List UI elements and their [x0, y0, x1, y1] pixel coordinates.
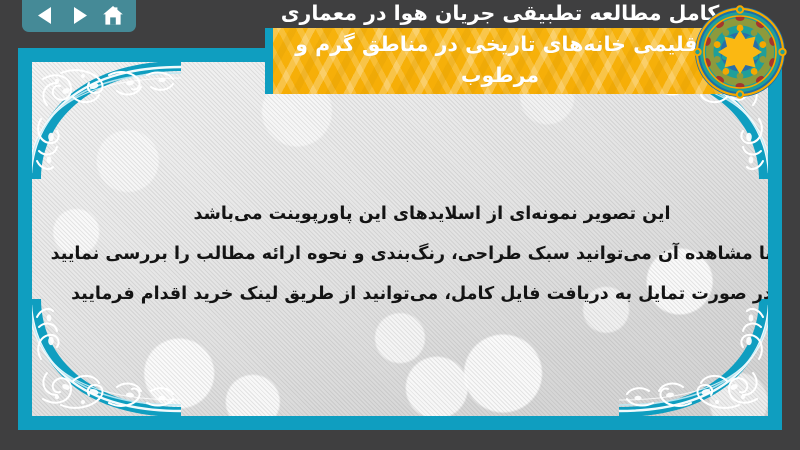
- slide-title: کامل مطالعه تطبیقی جریان هوا در معماری ا…: [265, 0, 735, 91]
- back-arrow-icon: [37, 6, 54, 25]
- slide-content-panel: این تصویر نمونه‌ای از اسلایدهای این پاور…: [32, 62, 768, 416]
- corner-arabesque-icon-bottom-left: [32, 299, 181, 416]
- persian-medallion-icon: [690, 2, 790, 102]
- navigation-toolbar: [22, 0, 136, 32]
- back-button[interactable]: [32, 3, 58, 27]
- home-button[interactable]: [100, 3, 126, 27]
- corner-arabesque-icon-top-left: [32, 62, 181, 179]
- home-icon: [102, 5, 124, 26]
- corner-arabesque-icon-bottom-right: [619, 299, 768, 416]
- slide-canvas[interactable]: این تصویر نمونه‌ای از اسلایدهای این پاور…: [18, 48, 782, 430]
- forward-button[interactable]: [66, 3, 92, 27]
- slide-body-text: این تصویر نمونه‌ای از اسلایدهای این پاور…: [92, 194, 768, 314]
- body-line-1: این تصویر نمونه‌ای از اسلایدهای این پاور…: [92, 194, 768, 234]
- body-line-2: با مشاهده آن می‌توانید سبک طراحی، رنگ‌بن…: [92, 234, 768, 274]
- forward-arrow-icon: [71, 6, 88, 25]
- body-line-3: در صورت تمایل به دریافت فایل کامل، می‌تو…: [92, 274, 768, 314]
